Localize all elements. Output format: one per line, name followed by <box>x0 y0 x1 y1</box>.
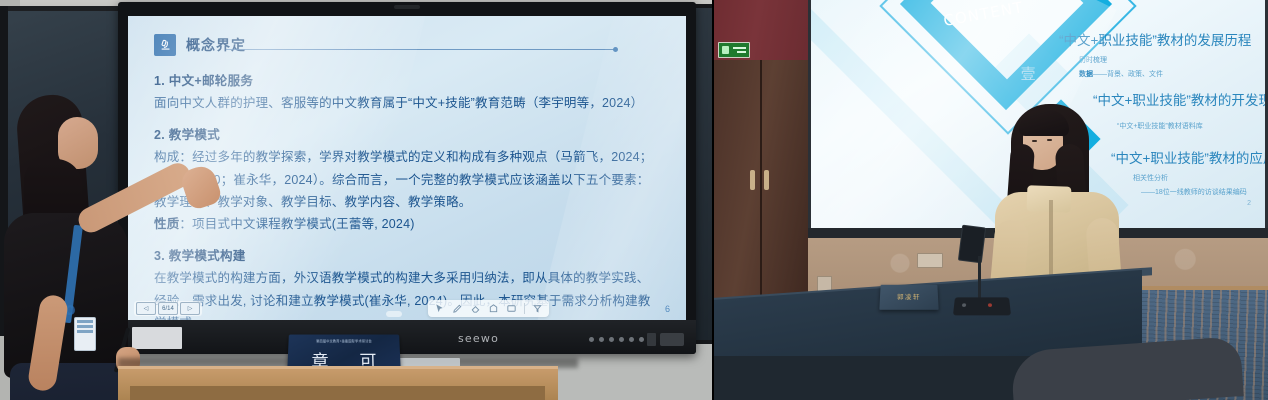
slide-header: 概念界定 <box>154 34 660 56</box>
door-handle-right[interactable] <box>764 170 769 190</box>
presenter-right-fringe <box>1019 110 1069 136</box>
block-2-body2-text: ：项目式中文课程教学模式(王蕾等, 2024) <box>179 217 414 231</box>
agenda-item-3-sub1: 相关性分析 <box>1133 173 1168 183</box>
agenda-item-2-sub1: “中文+职业技能”教材语料库 <box>1117 121 1203 131</box>
agenda-item-3-heading: “中文+职业技能”教材的应用现状 <box>1111 147 1268 167</box>
section-title: 概念界定 <box>186 35 246 55</box>
title-underline <box>226 49 614 50</box>
eraser-icon[interactable] <box>470 303 481 314</box>
desk-left-front <box>130 386 545 400</box>
annotation-quick-tools[interactable] <box>386 311 402 317</box>
conference-mic-display <box>958 225 986 264</box>
agenda-item-1-sub2: 数据——背景、政策、文件 <box>1079 69 1163 79</box>
more-icon[interactable] <box>532 303 543 314</box>
microscope-icon <box>154 34 176 56</box>
nameplate-right: 郭凌轩 <box>879 285 938 310</box>
block-1-body: 面向中文人群的护理、客服等的中文教育属于“中文+技能”教育范畴（李宇明等，202… <box>154 92 660 114</box>
right-photo-conference-hall: CONTENT 壹 贰 叁 “中文+职业技能”教材的发展历程 历时梳理 数据——… <box>712 0 1268 400</box>
toolbar-divider <box>524 303 525 314</box>
pager-next-button[interactable]: ▷ <box>180 302 200 315</box>
panel-chin-bar: seewo <box>118 320 696 354</box>
panel-port-hdmi <box>660 333 684 346</box>
block-3-heading: 3. 教学模式构建 <box>154 245 660 264</box>
brand-logo: seewo <box>458 332 499 345</box>
slide-body: 1. 中文+邮轮服务 面向中文人群的护理、客服等的中文教育属于“中文+技能”教育… <box>154 70 660 320</box>
panel-port-usb <box>647 333 656 346</box>
cursor-icon[interactable] <box>434 303 445 314</box>
conference-mic-stem <box>978 256 981 302</box>
nameplate-left-subtitle: 第四届中文教育+技能国际学术研讨会 <box>288 338 399 343</box>
door-handle-left[interactable] <box>750 170 755 190</box>
slide-number: 6 <box>665 304 670 314</box>
pen-icon[interactable] <box>452 303 463 314</box>
select-icon[interactable] <box>506 303 517 314</box>
photo-divider <box>712 0 714 400</box>
floating-toolbar[interactable] <box>428 300 549 317</box>
panel-camera-icon <box>394 5 420 9</box>
block-2-body2: 性质：项目式中文课程教学模式(王蕾等, 2024) <box>154 213 660 235</box>
badge <box>74 317 96 351</box>
agenda-item-1-sub2-text: ——背景、政策、文件 <box>1093 71 1163 78</box>
left-slide: 概念界定 1. 中文+邮轮服务 面向中文人群的护理、客服等的中文教育属于“中文+… <box>128 16 686 320</box>
shape-icon[interactable] <box>488 303 499 314</box>
agenda-item-3-sub2: ——18位一线教师的访谈结果编码 <box>1141 187 1247 197</box>
nameplate-right-name: 郭凌轩 <box>880 291 938 301</box>
right-slide-number: 2 <box>1247 200 1251 207</box>
exit-sign-icon <box>718 42 750 58</box>
left-photo-classroom: 概念界定 1. 中文+邮轮服务 面向中文人群的护理、客服等的中文教育属于“中文+… <box>0 0 712 400</box>
screenshot-root: 概念界定 1. 中文+邮轮服务 面向中文人群的护理、客服等的中文教育属于“中文+… <box>0 0 1268 400</box>
door-seam <box>760 60 762 310</box>
panel-indicator-leds <box>589 337 644 342</box>
presenter-right-eye-left <box>1032 140 1037 142</box>
panel-screen[interactable]: 概念界定 1. 中文+邮轮服务 面向中文人群的护理、客服等的中文教育属于“中文+… <box>128 16 686 320</box>
presenter-right-eye-right <box>1047 139 1052 141</box>
block-1-heading: 1. 中文+邮轮服务 <box>154 70 660 89</box>
block-2-heading: 2. 教学模式 <box>154 124 660 143</box>
pager-counter: 6/14 <box>158 302 178 315</box>
presenter-left: Bo <box>8 95 158 400</box>
presenter-left-skirt <box>10 363 126 400</box>
block-3-body: 在教学模式的构建方面，外汉语教学模式的构建大多采用归纳法，即从具体的教学实践、经… <box>154 267 660 320</box>
conference-mic-base[interactable] <box>953 297 1011 315</box>
wall-socket[interactable] <box>917 253 943 268</box>
block-2-body: 构成：经过多年的教学探索，学界对教学模式的定义和构成有多种观点（马箭飞，2024… <box>154 146 660 213</box>
